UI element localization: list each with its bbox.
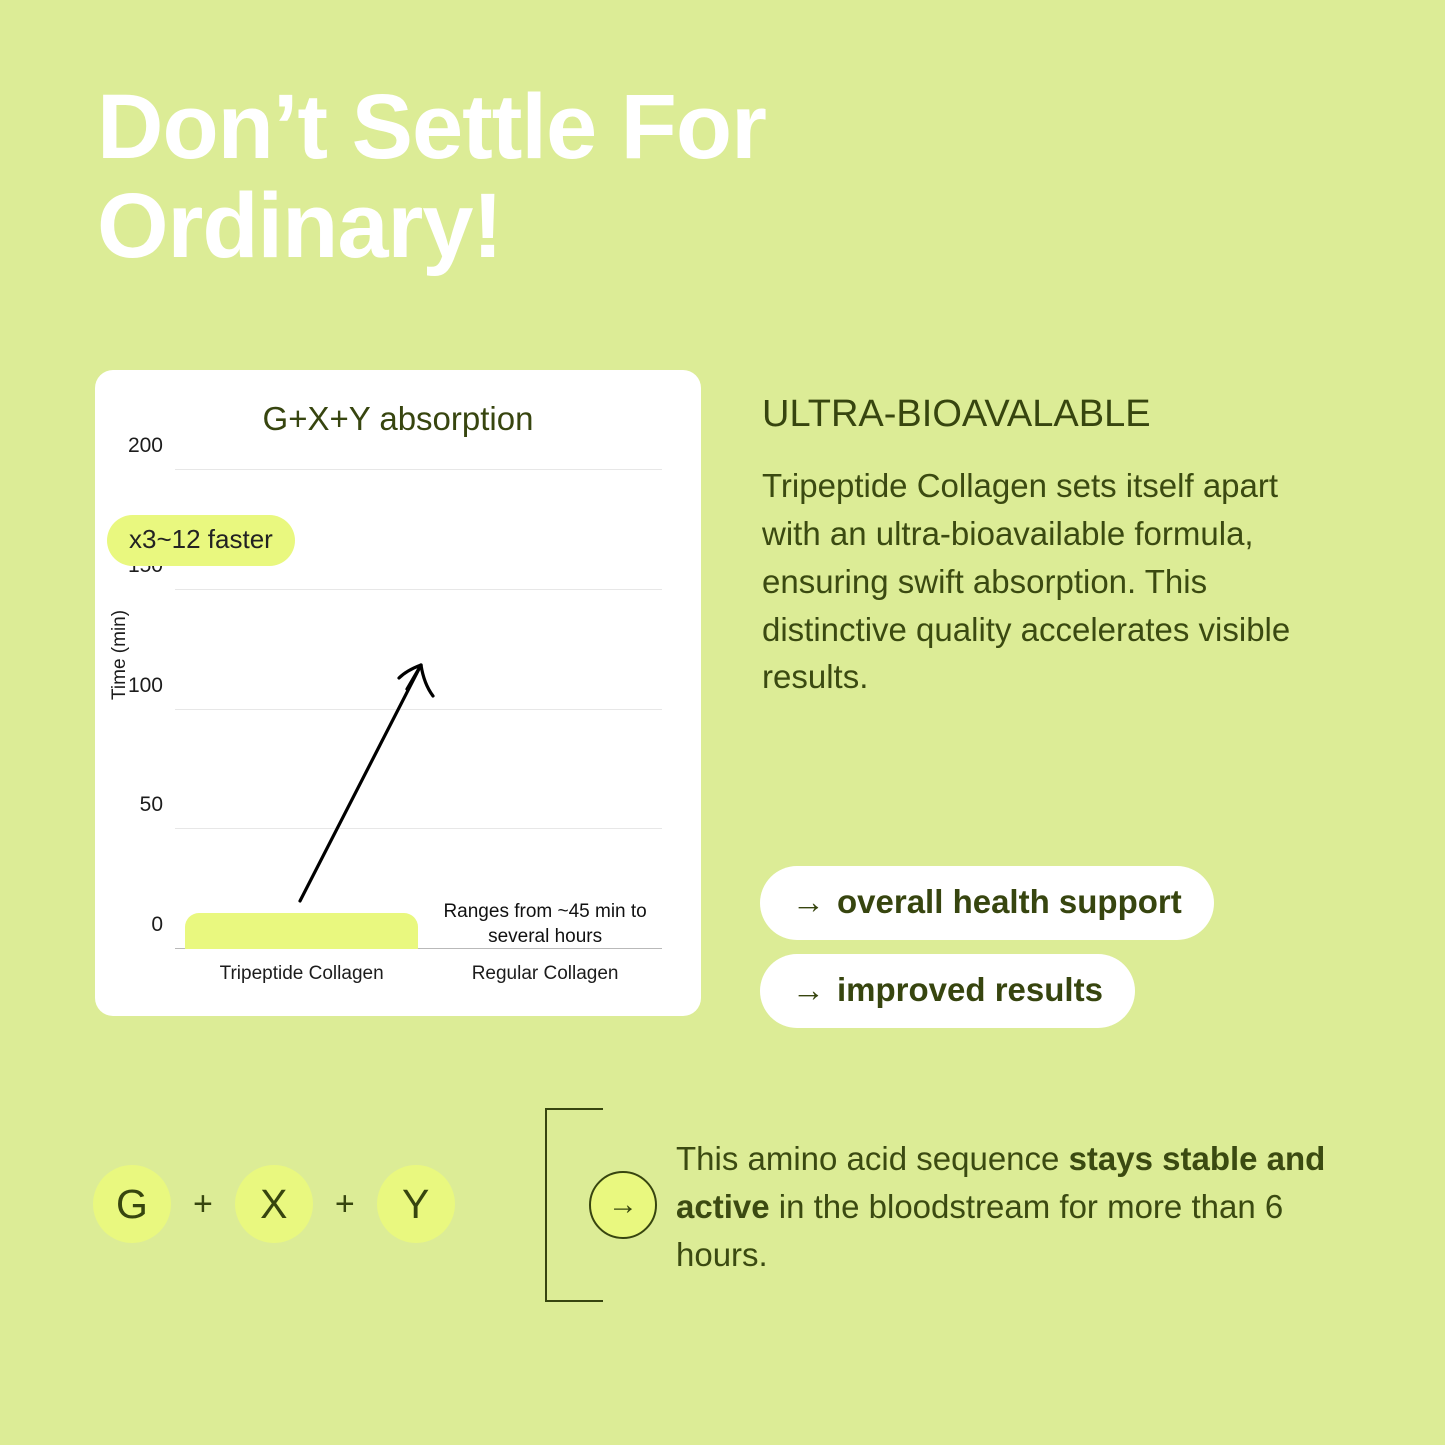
chart-title: G+X+Y absorption: [95, 400, 701, 438]
right-text-column: ULTRA-BIOAVALABLE Tripeptide Collagen se…: [762, 393, 1342, 701]
amino-acid-badge-x: X: [235, 1165, 313, 1243]
speed-badge: x3~12 faster: [107, 515, 295, 566]
arrow-right-circle-icon: →: [589, 1171, 657, 1239]
gridline-50: [175, 828, 662, 829]
bottom-text-part1: This amino acid sequence: [676, 1140, 1069, 1177]
amino-acid-badge-y: Y: [377, 1165, 455, 1243]
y-tick-100: 100: [128, 674, 163, 698]
body-paragraph: Tripeptide Collagen sets itself apart wi…: [762, 462, 1342, 701]
amino-acid-badge-g: G: [93, 1165, 171, 1243]
arrow-right-icon: →: [792, 971, 825, 1008]
gridline-200: [175, 469, 662, 470]
x-tick-tripeptide-collagen: Tripeptide Collagen: [185, 963, 419, 985]
bar-tripeptide-collagen: [185, 913, 419, 949]
benefit-pill-list: →overall health support →improved result…: [760, 866, 1340, 1042]
plus-sign-2: +: [335, 1185, 355, 1224]
gridline-150: [175, 589, 662, 590]
page-headline: Don’t Settle For Ordinary!: [97, 78, 1097, 277]
benefit-pill-improved-results[interactable]: →improved results: [760, 954, 1135, 1028]
y-tick-50: 50: [140, 793, 163, 817]
plus-sign-1: +: [193, 1185, 213, 1224]
amino-acid-sequence: G + X + Y: [93, 1165, 455, 1243]
y-tick-0: 0: [151, 913, 163, 937]
arrow-right-icon: →: [792, 883, 825, 920]
benefit-pill-label: overall health support: [837, 883, 1182, 920]
y-tick-200: 200: [128, 434, 163, 458]
gridline-100: [175, 709, 662, 710]
bar-range-note: Ranges from ~45 min to several hours: [428, 900, 662, 949]
benefit-pill-overall-health-support[interactable]: →overall health support: [760, 866, 1214, 940]
bottom-paragraph: This amino acid sequence stays stable an…: [676, 1135, 1344, 1279]
kicker-heading: ULTRA-BIOAVALABLE: [762, 393, 1342, 436]
benefit-pill-label: improved results: [837, 971, 1103, 1008]
absorption-chart-card: G+X+Y absorption Time (min) 200 150 100 …: [95, 370, 701, 1016]
x-tick-regular-collagen: Regular Collagen: [428, 963, 662, 985]
